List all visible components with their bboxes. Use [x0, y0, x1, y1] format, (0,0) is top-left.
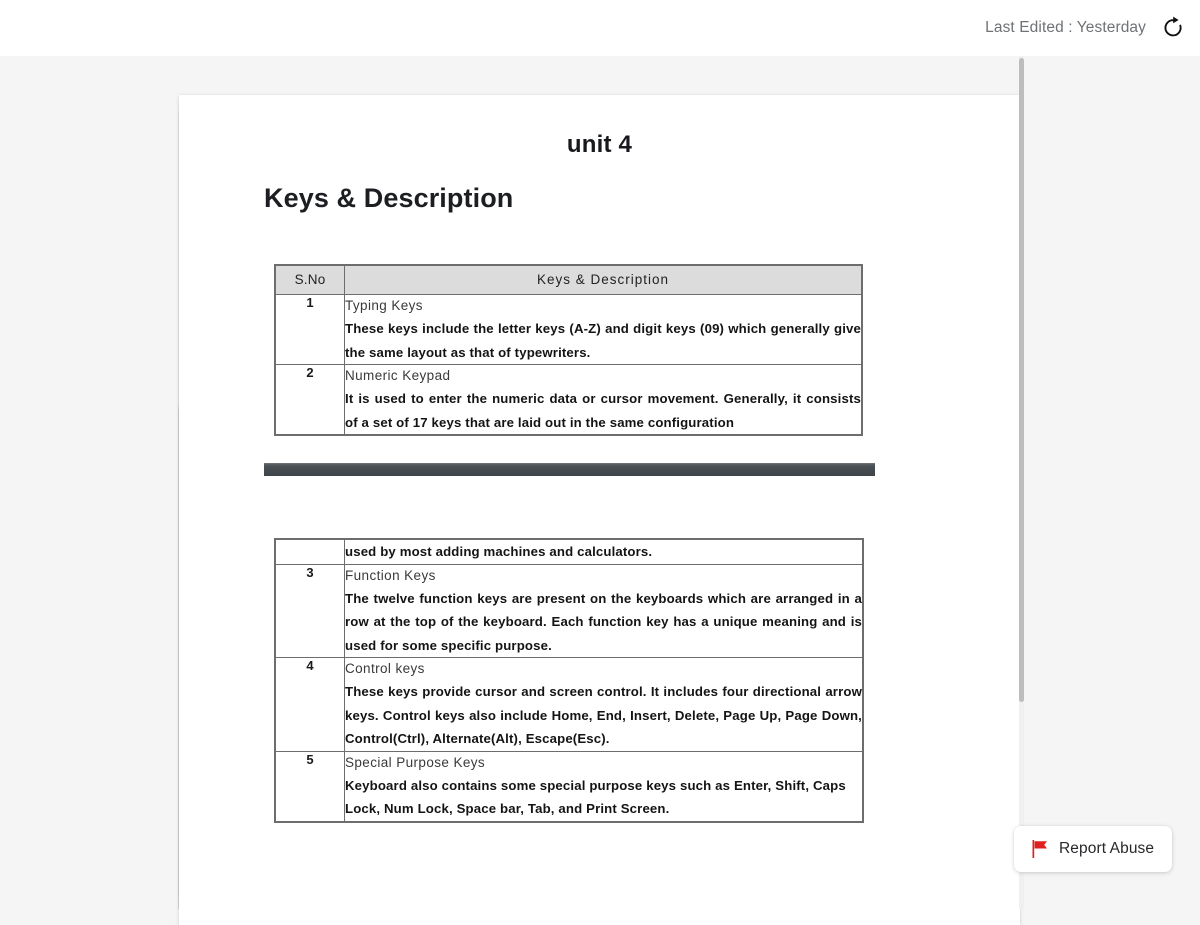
- continuation-text: used by most adding machines and calcula…: [345, 540, 862, 564]
- document-title: unit 4: [179, 131, 1020, 159]
- row-number: 1: [276, 295, 345, 365]
- app-topbar: Last Edited : Yesterday: [0, 0, 1200, 56]
- column-header-sno: S.No: [276, 266, 345, 295]
- key-term: Special Purpose Keys: [345, 752, 862, 774]
- document-page: unit 4 Keys & Description S.No Keys & De…: [179, 95, 1020, 925]
- row-content: used by most adding machines and calcula…: [345, 540, 863, 565]
- table-header-row: S.No Keys & Description: [276, 266, 862, 295]
- key-term: Control keys: [345, 658, 862, 680]
- report-abuse-label: Report Abuse: [1059, 840, 1154, 858]
- row-content: Numeric Keypad It is used to enter the n…: [345, 365, 862, 435]
- column-header-description: Keys & Description: [345, 266, 862, 295]
- table-row: 2 Numeric Keypad It is used to enter the…: [276, 365, 862, 435]
- row-number: 5: [276, 751, 345, 821]
- row-number: 2: [276, 365, 345, 435]
- row-number: 3: [276, 564, 345, 658]
- row-content: Control keys These keys provide cursor a…: [345, 658, 863, 752]
- key-term: Numeric Keypad: [345, 365, 861, 387]
- table-row-continuation: used by most adding machines and calcula…: [276, 540, 863, 565]
- key-description: It is used to enter the numeric data or …: [345, 387, 861, 434]
- refresh-icon[interactable]: [1160, 15, 1186, 41]
- row-content: Special Purpose Keys Keyboard also conta…: [345, 751, 863, 821]
- flag-icon: [1032, 840, 1048, 858]
- keys-table-scan-bottom: used by most adding machines and calcula…: [274, 538, 864, 823]
- row-content: Function Keys The twelve function keys a…: [345, 564, 863, 658]
- key-description: The twelve function keys are present on …: [345, 587, 862, 658]
- scrollbar-thumb[interactable]: [1019, 58, 1024, 702]
- row-content: Typing Keys These keys include the lette…: [345, 295, 862, 365]
- table-row: 5 Special Purpose Keys Keyboard also con…: [276, 751, 863, 821]
- vertical-scrollbar[interactable]: [1019, 56, 1024, 909]
- keys-table-2: used by most adding machines and calcula…: [275, 539, 863, 822]
- last-edited-label: Last Edited : Yesterday: [985, 19, 1146, 37]
- row-number: 4: [276, 658, 345, 752]
- key-term: Typing Keys: [345, 295, 861, 317]
- key-term: Function Keys: [345, 565, 862, 587]
- report-abuse-button[interactable]: Report Abuse: [1014, 826, 1172, 872]
- document-viewer: unit 4 Keys & Description S.No Keys & De…: [0, 56, 1200, 909]
- keys-table-1: S.No Keys & Description 1 Typing Keys Th…: [275, 265, 862, 435]
- row-number-empty: [276, 540, 345, 565]
- key-description: Keyboard also contains some special purp…: [345, 774, 862, 821]
- scan-separator-bar: [264, 463, 875, 476]
- keys-table-scan-top: S.No Keys & Description 1 Typing Keys Th…: [274, 264, 863, 436]
- key-description: These keys provide cursor and screen con…: [345, 680, 862, 751]
- table-row: 4 Control keys These keys provide cursor…: [276, 658, 863, 752]
- table-row: 1 Typing Keys These keys include the let…: [276, 295, 862, 365]
- table-row: 3 Function Keys The twelve function keys…: [276, 564, 863, 658]
- document-heading: Keys & Description: [264, 183, 513, 214]
- key-description: These keys include the letter keys (A-Z)…: [345, 317, 861, 364]
